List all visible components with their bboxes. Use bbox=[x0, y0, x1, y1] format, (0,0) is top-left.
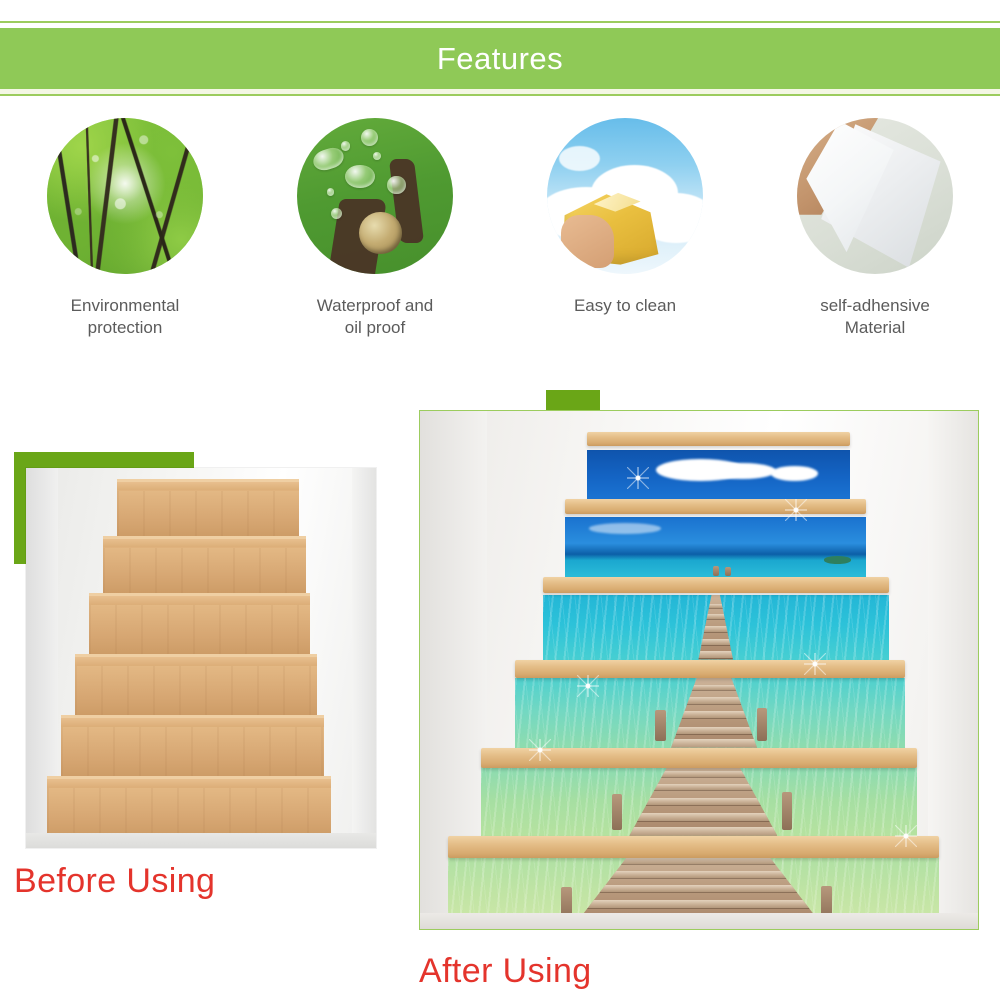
feature-label: Waterproof and oil proof bbox=[317, 295, 434, 339]
feature-label: Easy to clean bbox=[574, 295, 676, 317]
after-using-photo bbox=[419, 410, 979, 930]
forest-canopy-icon bbox=[47, 118, 203, 274]
peeling-adhesive-sheet-icon bbox=[797, 118, 953, 274]
product-feature-page: Features Environmental protection bbox=[0, 0, 1000, 1000]
mural-riser-6 bbox=[448, 836, 939, 924]
mural-riser-5 bbox=[481, 748, 916, 836]
feature-label: Environmental protection bbox=[71, 295, 180, 339]
header-rule-bottom bbox=[0, 94, 1000, 96]
feature-item-environmental-protection: Environmental protection bbox=[0, 118, 250, 339]
features-row: Environmental protection Water bbox=[0, 118, 1000, 339]
hand-with-cloth-icon bbox=[547, 118, 703, 274]
mural-riser-2 bbox=[565, 499, 866, 577]
water-droplets-leaf-icon bbox=[297, 118, 453, 274]
before-using-photo bbox=[26, 468, 376, 848]
feature-label: self-adhensive Material bbox=[820, 295, 930, 339]
mural-riser-3 bbox=[543, 577, 889, 660]
feature-item-self-adhesive-material: self-adhensive Material bbox=[750, 118, 1000, 339]
feature-item-waterproof-oilproof: Waterproof and oil proof bbox=[250, 118, 500, 339]
after-using-block bbox=[419, 410, 989, 930]
mural-riser-1 bbox=[587, 432, 849, 499]
after-using-caption: After Using bbox=[419, 952, 592, 991]
feature-item-easy-to-clean: Easy to clean bbox=[500, 118, 750, 339]
before-using-block bbox=[14, 452, 386, 852]
before-using-caption: Before Using bbox=[14, 862, 215, 901]
header-banner: Features bbox=[0, 28, 1000, 89]
page-title: Features bbox=[437, 43, 563, 74]
header-rule-top bbox=[0, 21, 1000, 23]
mural-riser-4 bbox=[515, 660, 906, 748]
